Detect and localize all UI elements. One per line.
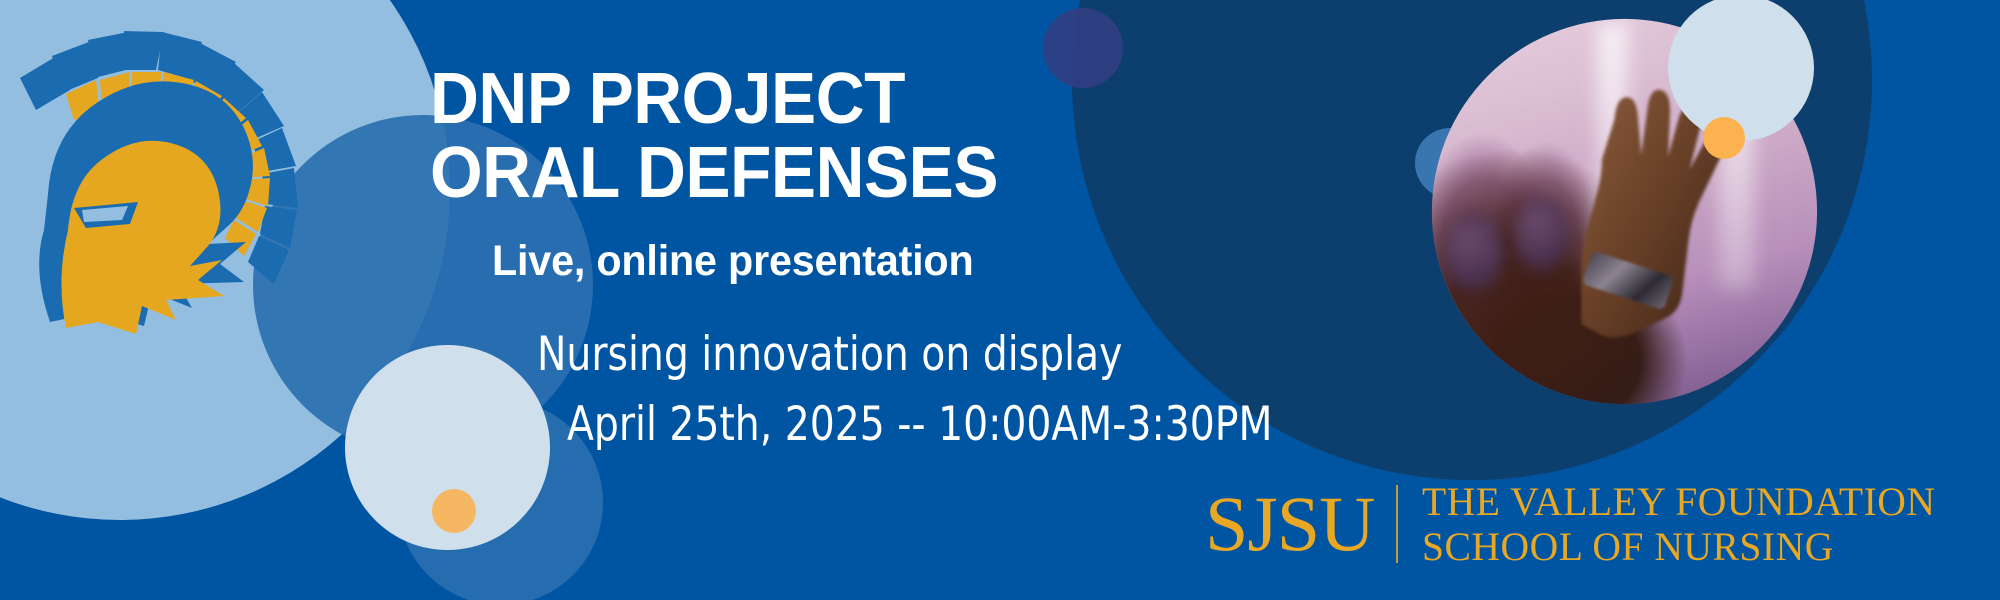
sjsu-wordmark: SJSU [1205, 485, 1396, 563]
tagline-line-1: Nursing innovation on display [537, 330, 1122, 380]
lockup-subtext-line-2: SCHOOL OF NURSING [1422, 524, 1935, 569]
lockup-divider [1396, 485, 1398, 563]
headline-line-2: ORAL DEFENSES [430, 136, 998, 210]
decorative-circle-pale-top-right [1668, 0, 1814, 141]
sjsu-school-of-nursing-lockup: SJSU THE VALLEY FOUNDATION SCHOOL OF NUR… [1205, 478, 1941, 570]
tagline-line-2-datetime: April 25th, 2025 -- 10:00AM-3:30PM [567, 400, 1272, 450]
sjsu-lockup-subtext: THE VALLEY FOUNDATION SCHOOL OF NURSING [1422, 479, 1935, 569]
lockup-subtext-line-1: THE VALLEY FOUNDATION [1422, 479, 1935, 524]
headline-line-1: DNP PROJECT [430, 62, 905, 136]
photo-blurred-audience-head-1 [1444, 212, 1503, 291]
subtitle: Live, online presentation [492, 238, 973, 284]
decorative-dot-orange-right [1703, 117, 1745, 159]
event-banner: DNP PROJECT ORAL DEFENSES Live, online p… [0, 0, 2000, 600]
banner-text-block: DNP PROJECT ORAL DEFENSES Live, online p… [0, 0, 1340, 600]
